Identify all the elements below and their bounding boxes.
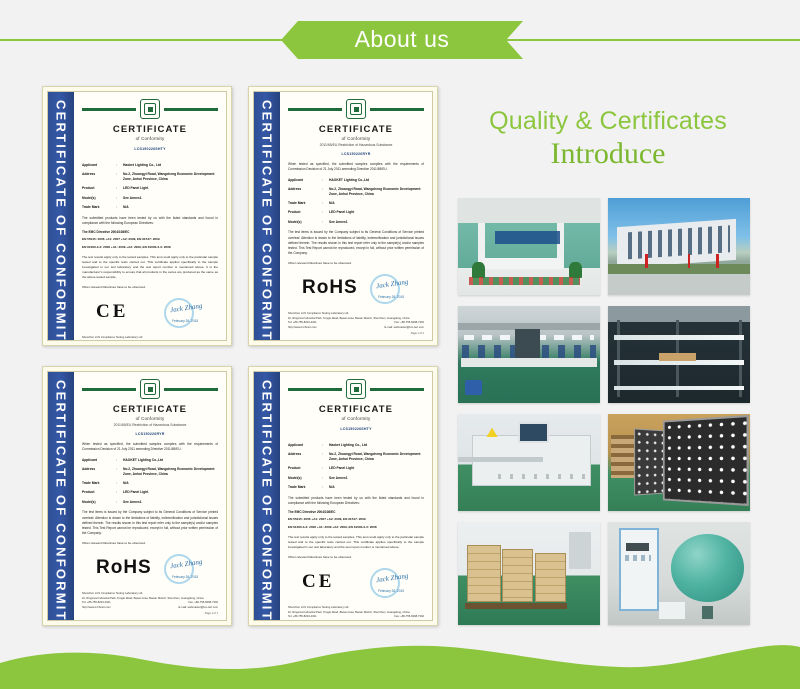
- certificate-field-row: Product : LED Panel Light: [288, 466, 424, 471]
- certificate-standard-2: EN 61000-3-2: 2006 +A1: 2009 +A2: 2009, …: [82, 245, 218, 250]
- field-colon: :: [322, 201, 329, 206]
- certificate-fields: Applicant : Haoket Lighting Co., Ltd Add…: [82, 163, 218, 210]
- reception-desk: [484, 258, 564, 269]
- certificate-field-row: Model(s) : See Annex1: [288, 476, 424, 481]
- photo-warehouse-cartons[interactable]: [458, 522, 600, 625]
- field-label: Address: [82, 172, 116, 182]
- field-colon: :: [116, 458, 123, 463]
- certificate-note: The submitted products have been tested …: [82, 216, 218, 226]
- field-colon: :: [322, 485, 329, 490]
- certificate-sidebar: CERTIFICATE OF CONFORMITY: [48, 372, 74, 620]
- field-label: Product: [82, 186, 116, 191]
- page-title: About us: [355, 28, 450, 53]
- certificate-fields: Applicant : Haoket Lighting Co., Ltd Add…: [288, 443, 424, 490]
- certificate-stamp: Jack Zhang February 26, 2015: [368, 272, 414, 308]
- certificate-paragraph: Other relevant Directives have to be obs…: [82, 541, 218, 546]
- field-label: Applicant: [288, 443, 322, 448]
- footer-email[interactable]: E-mail: webmaster@lcs-cert.com: [385, 326, 424, 331]
- field-value: See Annex1: [123, 196, 218, 201]
- field-colon: :: [116, 500, 123, 505]
- field-value: LED Panel Light: [123, 186, 218, 191]
- certificate-reference: LCS150226SHTY: [288, 427, 424, 431]
- stamp-date: February 26, 2015: [172, 319, 198, 323]
- field-colon: :: [116, 481, 123, 486]
- stamp-date: February 26, 2015: [378, 589, 404, 593]
- certificate-standard-1: EN 55015: 2006 +A1: 2007 +A2: 2009, EN 6…: [288, 517, 424, 522]
- certificate-standard-line: 2011/65/EU Restriction of Hazardous Subs…: [82, 423, 218, 427]
- photo-reflow-oven[interactable]: [458, 414, 600, 511]
- field-colon: :: [322, 210, 329, 215]
- certificate-footer: Shenzhen LCS Compliance Testing Laborato…: [82, 336, 218, 340]
- field-colon: :: [322, 476, 329, 481]
- certificate-header: [82, 379, 218, 399]
- field-label: Applicant: [82, 458, 116, 463]
- certificate-field-row: Applicant : Haoket Lighting Co., Ltd: [82, 163, 218, 168]
- certificate-directive: The EMC Directive 2004/108/EC: [82, 230, 218, 234]
- rohs-mark-icon: RoHS: [96, 558, 152, 577]
- certificate-subtitle: of Conformity: [82, 136, 218, 142]
- field-label: Applicant: [288, 178, 322, 183]
- header-rule-left: [82, 388, 136, 391]
- field-label: Address: [82, 467, 116, 477]
- footer-website[interactable]: http://www.LCScert.com: [288, 326, 317, 331]
- photo-led-panel-boards[interactable]: [608, 414, 750, 511]
- certificate-footer: Shenzhen LCS Compliance Testing Laborato…: [288, 606, 424, 620]
- certificate-note: The submitted products have been tested …: [288, 496, 424, 506]
- certificate-field-row: Address : No.2, Zhuangyi Road, Wangcheng…: [288, 452, 424, 462]
- certificate-field-row: Product : LED Panel Light: [82, 186, 218, 191]
- certificate-mark-row: RoHS Jack Zhang February 26, 2015: [82, 550, 218, 590]
- certificate-field-row: Trade Mark : N/A: [288, 485, 424, 490]
- certificate-intro: When tested as specified, the submitted …: [82, 442, 218, 452]
- certificate-title: CERTIFICATE: [82, 124, 218, 135]
- field-value: LED Panel Light: [329, 466, 424, 471]
- certificate-field-row: Trade Mark : N/A: [82, 205, 218, 210]
- field-value: HAOKET Lighting Co.,Ltd: [329, 178, 424, 183]
- field-colon: :: [116, 205, 123, 210]
- ce-mark-icon: CE: [96, 302, 128, 321]
- certificate-header: [288, 99, 424, 119]
- field-value: No.2, Zhuangyi Road, Wangcheng Economic …: [329, 187, 424, 197]
- field-label: Trade Mark: [82, 481, 116, 486]
- certificate-title: CERTIFICATE: [82, 404, 218, 415]
- certificate-subtitle: of Conformity: [288, 136, 424, 142]
- certificate-card[interactable]: CERTIFICATE OF CONFORMITY CERTIFICATE of…: [42, 86, 232, 346]
- field-label: Address: [288, 452, 322, 462]
- field-value: Haoket Lighting Co., Ltd: [123, 163, 218, 168]
- field-colon: :: [116, 467, 123, 477]
- field-colon: :: [116, 196, 123, 201]
- section-headline: Quality & Certificates Introduce: [458, 108, 758, 170]
- footer-website[interactable]: http://www.LCScert.com: [82, 606, 111, 611]
- certificate-stamp: Jack Zhang February 26, 2015: [162, 552, 208, 588]
- certificate-reference: LCS150226RYR: [288, 152, 424, 156]
- certificate-standard-2: EN 61000-3-2: 2006 +A1: 2009 +A2: 2009, …: [288, 525, 424, 530]
- field-label: Trade Mark: [82, 205, 116, 210]
- certificate-standard-line: 2011/65/EU Restriction of Hazardous Subs…: [288, 143, 424, 147]
- certificate-paragraph: Other relevant Directives have to be obs…: [288, 261, 424, 266]
- field-colon: :: [322, 452, 329, 462]
- headline-line-2: Introduce: [458, 138, 758, 170]
- field-value: No.2, Zhuangyi Road, Wangcheng Economic …: [123, 467, 218, 477]
- rohs-mark-icon: RoHS: [302, 278, 358, 297]
- certificate-card[interactable]: CERTIFICATE OF CONFORMITY CERTIFICATE of…: [42, 366, 232, 626]
- certificate-field-row: Model(s) : See Annex1: [82, 196, 218, 201]
- certificate-title: CERTIFICATE: [288, 124, 424, 135]
- header-rule-right: [164, 108, 218, 111]
- certificate-field-row: Model(s) : See Annex1: [288, 220, 424, 225]
- field-colon: :: [116, 186, 123, 191]
- field-value: LED Panel Light: [123, 490, 218, 495]
- field-colon: :: [116, 163, 123, 168]
- certificate-sidebar: CERTIFICATE OF CONFORMITY: [48, 92, 74, 340]
- field-label: Trade Mark: [288, 201, 322, 206]
- certificate-fields: Applicant : HAOKET Lighting Co.,Ltd Addr…: [288, 178, 424, 225]
- certificate-field-row: Product : LED Panel Light: [288, 210, 424, 215]
- certificate-field-row: Applicant : HAOKET Lighting Co.,Ltd: [288, 178, 424, 183]
- certificate-stamp: Jack Zhang February 26, 2015: [162, 296, 208, 332]
- certificates-grid: CERTIFICATE OF CONFORMITY CERTIFICATE of…: [42, 86, 442, 631]
- certificate-reference: LCS150226RYR: [82, 432, 218, 436]
- certificate-sidebar-label: CERTIFICATE OF CONFORMITY: [260, 372, 275, 620]
- certificate-fields: Applicant : HAOKET Lighting Co.,Ltd Addr…: [82, 458, 218, 505]
- certificate-directive: The EMC Directive 2004/108/EC: [288, 510, 424, 514]
- certificate-field-row: Address : No.2, Zhuangyi Road, Wangcheng…: [82, 172, 218, 182]
- footer-email[interactable]: E-mail: webmaster@lcs-cert.com: [179, 606, 218, 611]
- integrating-sphere: [671, 534, 745, 602]
- warning-triangle-icon: [486, 428, 497, 438]
- header-rule-right: [164, 388, 218, 391]
- certificate-note: The test items is issued by the Company …: [82, 510, 218, 536]
- certificate-header: [82, 99, 218, 119]
- certificate-mark-row: CE Jack Zhang February 26, 2015: [82, 294, 218, 334]
- field-label: Trade Mark: [288, 485, 322, 490]
- certificate-header: [288, 379, 424, 399]
- photo-assembly-line[interactable]: [458, 306, 600, 403]
- certificate-field-row: Product : LED Panel Light: [82, 490, 218, 495]
- certificate-stamp: Jack Zhang February 26, 2015: [368, 566, 414, 602]
- certificate-sidebar-label: CERTIFICATE OF CONFORMITY: [260, 92, 275, 340]
- field-colon: :: [322, 187, 329, 197]
- field-label: Model(s): [82, 500, 116, 505]
- bottom-wave-decoration: [0, 637, 800, 689]
- potted-plants-row: [469, 277, 580, 286]
- field-label: Model(s): [288, 476, 322, 481]
- field-colon: :: [322, 466, 329, 471]
- field-value: N/A: [123, 481, 218, 486]
- header-rule-left: [82, 108, 136, 111]
- field-label: Model(s): [288, 220, 322, 225]
- field-value: See Annex1: [329, 476, 424, 481]
- field-label: Address: [288, 187, 322, 197]
- field-value: N/A: [329, 201, 424, 206]
- field-value: See Annex1: [329, 220, 424, 225]
- certificate-standard-1: EN 55015: 2006 +A1: 2007 +A2: 2009, EN 6…: [82, 237, 218, 242]
- photo-aging-test-racks[interactable]: [608, 306, 750, 403]
- field-value: See Annex1: [123, 500, 218, 505]
- reception-wall-sign: [495, 231, 560, 244]
- certificate-logo-icon: [140, 379, 160, 399]
- certificate-field-row: Trade Mark : N/A: [288, 201, 424, 206]
- certificate-card[interactable]: CERTIFICATE OF CONFORMITY CERTIFICATE of…: [248, 366, 438, 626]
- certificate-title: CERTIFICATE: [288, 404, 424, 415]
- certificate-field-row: Address : No.2, Zhuangyi Road, Wangcheng…: [82, 467, 218, 477]
- certificate-note: The test items is issued by the Company …: [288, 230, 424, 256]
- field-value: HAOKET Lighting Co.,Ltd: [123, 458, 218, 463]
- certificate-field-row: Trade Mark : N/A: [82, 481, 218, 486]
- page-header-banner: About us: [0, 0, 800, 70]
- certificate-field-row: Applicant : HAOKET Lighting Co.,Ltd: [82, 458, 218, 463]
- certificate-card[interactable]: CERTIFICATE OF CONFORMITY CERTIFICATE of…: [248, 86, 438, 346]
- header-rule-right: [370, 108, 424, 111]
- certificate-paragraph: The test results apply only to the teste…: [82, 255, 218, 280]
- headline-line-1: Quality & Certificates: [458, 108, 758, 134]
- certificate-logo-icon: [140, 99, 160, 119]
- field-label: Product: [288, 466, 322, 471]
- field-value: N/A: [123, 205, 218, 210]
- stamp-date: February 26, 2015: [172, 575, 198, 579]
- certificate-mark-row: RoHS Jack Zhang February 26, 2015: [288, 270, 424, 310]
- certificate-reference: LCS150226SHTY: [82, 147, 218, 151]
- header-rule-right: [370, 388, 424, 391]
- field-label: Product: [82, 490, 116, 495]
- about-us-banner-tag: About us: [281, 21, 523, 59]
- certificate-paragraph: The test results apply only to the teste…: [288, 535, 424, 550]
- header-rule-left: [288, 108, 342, 111]
- field-colon: :: [322, 443, 329, 448]
- certificate-sidebar: CERTIFICATE OF CONFORMITY: [254, 372, 280, 620]
- photo-office-reception[interactable]: [458, 198, 600, 295]
- certificate-sidebar-label: CERTIFICATE OF CONFORMITY: [54, 92, 69, 340]
- certificate-extra: Other relevant Directives have to be obs…: [82, 285, 218, 290]
- field-colon: :: [322, 178, 329, 183]
- field-value: LED Panel Light: [329, 210, 424, 215]
- field-value: No.2, Zhuangyi Road, Wangcheng Economic …: [123, 172, 218, 182]
- certificate-field-row: Applicant : Haoket Lighting Co., Ltd: [288, 443, 424, 448]
- certificate-sidebar-label: CERTIFICATE OF CONFORMITY: [54, 372, 69, 620]
- header-rule-left: [288, 388, 342, 391]
- photo-integrating-sphere-lab[interactable]: [608, 522, 750, 625]
- field-value: N/A: [329, 485, 424, 490]
- certificate-footer: Shenzhen LCS Compliance Testing Laborato…: [288, 312, 424, 337]
- certificate-subtitle: of Conformity: [82, 416, 218, 422]
- certificate-footer: Shenzhen LCS Compliance Testing Laborato…: [82, 592, 218, 617]
- certificate-field-row: Model(s) : See Annex1: [82, 500, 218, 505]
- field-label: Applicant: [82, 163, 116, 168]
- field-label: Product: [288, 210, 322, 215]
- photo-factory-building[interactable]: [608, 198, 750, 295]
- ce-mark-icon: CE: [302, 572, 334, 591]
- certificate-mark-row: CE Jack Zhang February 26, 2015: [288, 564, 424, 604]
- certificate-intro: When tested as specified, the submitted …: [288, 162, 424, 172]
- field-value: No.2, Zhuangyi Road, Wangcheng Economic …: [329, 452, 424, 462]
- field-label: Model(s): [82, 196, 116, 201]
- field-colon: :: [116, 172, 123, 182]
- footer-page-number: Page 1 of 1: [288, 332, 424, 336]
- field-colon: :: [322, 220, 329, 225]
- factory-photo-grid: [458, 198, 750, 638]
- certificate-sidebar: CERTIFICATE OF CONFORMITY: [254, 92, 280, 340]
- certificate-extra: Other relevant Directives have to be obs…: [288, 555, 424, 560]
- certificate-logo-icon: [346, 99, 366, 119]
- footer-company: Shenzhen LCS Compliance Testing Laborato…: [82, 336, 218, 340]
- field-colon: :: [116, 490, 123, 495]
- footer-page-number: Page 1 of 1: [82, 612, 218, 616]
- certificate-logo-icon: [346, 379, 366, 399]
- certificate-subtitle: of Conformity: [288, 416, 424, 422]
- field-value: Haoket Lighting Co., Ltd: [329, 443, 424, 448]
- stamp-date: February 26, 2015: [378, 295, 404, 299]
- certificate-field-row: Address : No.2, Zhuangyi Road, Wangcheng…: [288, 187, 424, 197]
